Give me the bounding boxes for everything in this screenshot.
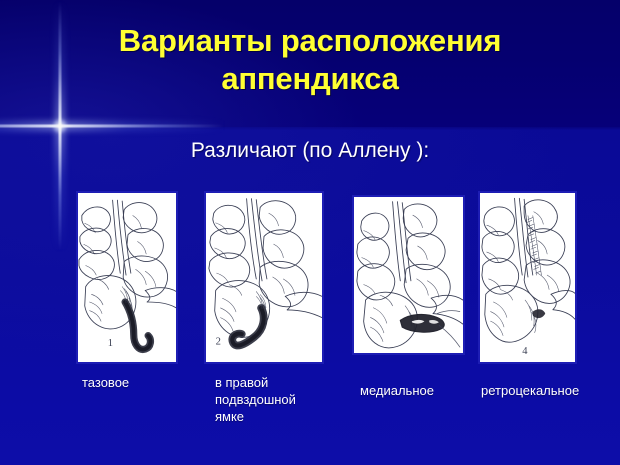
figure-panel-3 xyxy=(352,195,465,355)
slide-title: Варианты расположения аппендикса xyxy=(0,22,620,98)
figure-row: 1 xyxy=(0,191,620,367)
figure-panel-1: 1 xyxy=(76,191,178,364)
figure-number-4: 4 xyxy=(522,346,528,357)
figure-panel-2: 2 xyxy=(204,191,324,364)
caption-row: тазовое в правой подвздошной ямке медиал… xyxy=(0,374,620,444)
figure-caption-2: в правой подвздошной ямке xyxy=(215,374,320,425)
figure-caption-3: медиальное xyxy=(360,382,475,399)
slide-title-line-1: Варианты расположения xyxy=(20,22,600,60)
slide-title-line-2: аппендикса xyxy=(20,60,600,98)
figure-number-1: 1 xyxy=(108,338,113,349)
figure-caption-1: тазовое xyxy=(82,374,192,391)
figure-panel-4: 4 xyxy=(478,191,577,364)
slide-subtitle: Различают (по Аллену ): xyxy=(0,138,620,164)
slide: Варианты расположения аппендикса Различа… xyxy=(0,0,620,465)
figure-number-2: 2 xyxy=(216,337,221,348)
figure-caption-4: ретроцекальное xyxy=(481,382,616,399)
